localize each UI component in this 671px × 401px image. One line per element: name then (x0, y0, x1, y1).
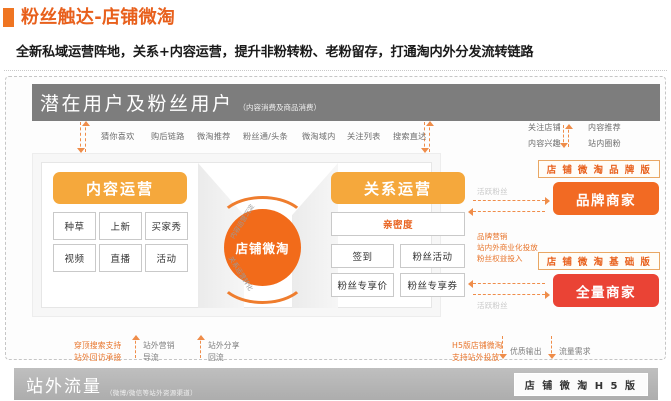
content-cell-0[interactable]: 种草 (53, 212, 96, 240)
arrow-pair-bottom-4 (551, 336, 552, 358)
mid-note-1: 站内外商业化投放 (477, 242, 538, 254)
relation-cell-3[interactable]: 粉丝专享券 (400, 273, 465, 297)
relation-cell-0[interactable]: 签到 (331, 244, 394, 268)
top-band-title: 潜在用户及粉丝用户 (40, 89, 234, 116)
arrow-pair-bottom-2 (200, 336, 201, 358)
bottom-note-right-quality: 优质输出 (510, 346, 542, 358)
bottom-note-right-1: 支持站外投放 (452, 352, 499, 364)
content-cell-1[interactable]: 上新 (99, 212, 142, 240)
bottom-note-mid2-0: 站外分享 (208, 340, 240, 352)
page-subtitle: 全新私域运营阵地，关系+内容运营，提升非粉转粉、老粉留存，打通淘内外分发流转链路 (16, 41, 533, 60)
mid-note-0: 品牌营销 (477, 231, 507, 243)
channel-label-3: 粉丝通/头条 (243, 130, 288, 142)
channel-label-6: 搜索直达 (393, 130, 427, 142)
content-cell-5[interactable]: 活动 (145, 244, 188, 272)
content-cell-2[interactable]: 买家秀 (145, 212, 188, 240)
basic-version-tag: 店 铺 微 淘 基 础 版 (538, 252, 660, 270)
slide-root: 粉丝触达-店铺微淘 全新私域运营阵地，关系+内容运营，提升非粉转粉、老粉留存，打… (0, 0, 671, 401)
bottom-note-mid1-0: 站外营销 (143, 340, 175, 352)
arrow-up-icon (85, 122, 86, 152)
brand-merchant-box[interactable]: 品牌商家 (553, 182, 659, 215)
bottom-note-right-demand: 流量需求 (559, 346, 591, 358)
content-ops-title: 内容运营 (53, 172, 187, 204)
side-label-right-top: 内容推荐 (588, 122, 621, 134)
channel-label-5: 关注列表 (347, 130, 381, 142)
arrow-pair-right (563, 125, 569, 147)
h5-version-tag: 店 铺 微 淘 H 5 版 (514, 373, 648, 396)
relation-cell-2[interactable]: 粉丝专享价 (331, 273, 394, 297)
arrow-pair-left (80, 122, 86, 152)
mid-note-2: 粉丝权益投入 (477, 253, 523, 265)
bottom-band-title: 站外流量 (26, 372, 102, 397)
relation-ops-title: 关系运营 (331, 172, 465, 204)
bottom-note-left-0: 穿顶搜索支持 (74, 340, 121, 352)
flow-note-bottom: 活跃粉丝 (477, 300, 508, 311)
arrow-up-icon (568, 125, 569, 147)
bottom-band-left: 站外流量 （微博/微信等站外资源渠道） (26, 372, 197, 397)
arrow-down-icon (563, 125, 564, 147)
top-band-note: （内容消费及商品消费） (239, 102, 322, 121)
channel-label-0: 猜你喜欢 (101, 130, 135, 142)
bottom-note-right-0: H5版店铺微淘 (452, 340, 503, 352)
side-label-left-top: 关注店铺 (528, 122, 561, 134)
page-title-row: 粉丝触达-店铺微淘 (0, 8, 175, 27)
bottom-note-left-1: 站外回访承接 (74, 352, 121, 364)
bottom-note-mid1-1: 导流 (143, 352, 159, 364)
bottom-band: 站外流量 （微博/微信等站外资源渠道） 店 铺 微 淘 H 5 版 (14, 368, 658, 400)
side-label-left-bottom: 内容兴趣 (528, 138, 561, 150)
title-divider (4, 70, 667, 71)
relation-cell-1[interactable]: 粉丝活动 (400, 244, 465, 268)
content-cell-4[interactable]: 直播 (99, 244, 142, 272)
side-label-right-bottom: 站内圈粉 (588, 138, 621, 150)
all-merchant-box[interactable]: 全量商家 (553, 274, 659, 307)
bottom-note-mid2-1: 回流 (208, 352, 224, 364)
channel-label-4: 微淘域内 (302, 130, 336, 142)
page-title: 粉丝触达-店铺微淘 (21, 9, 175, 27)
top-band: 潜在用户及粉丝用户 （内容消费及商品消费） (32, 84, 660, 121)
arrow-down-icon (80, 122, 81, 152)
flow-note-top: 活跃粉丝 (477, 186, 508, 197)
arrow-up-icon (429, 122, 430, 152)
arrow-up-icon (200, 336, 201, 358)
arrow-down-icon (551, 336, 552, 358)
arrow-right-top (473, 200, 545, 201)
content-cell-3[interactable]: 视频 (53, 244, 96, 272)
brand-version-tag: 店 铺 微 淘 品 牌 版 (538, 160, 660, 178)
arrow-pair-bottom-1 (135, 336, 136, 358)
arrow-right-bottom (473, 294, 545, 295)
title-marker-icon (3, 8, 14, 27)
arrow-up-icon (135, 336, 136, 358)
bottom-band-note: （微博/微信等站外资源渠道） (106, 387, 197, 397)
arrow-left-top (473, 211, 545, 212)
intimacy-cell[interactable]: 亲密度 (331, 212, 465, 236)
channel-label-2: 微淘推荐 (197, 130, 231, 142)
channel-label-1: 购后链路 (151, 130, 185, 142)
arrow-left-bottom (473, 283, 545, 284)
